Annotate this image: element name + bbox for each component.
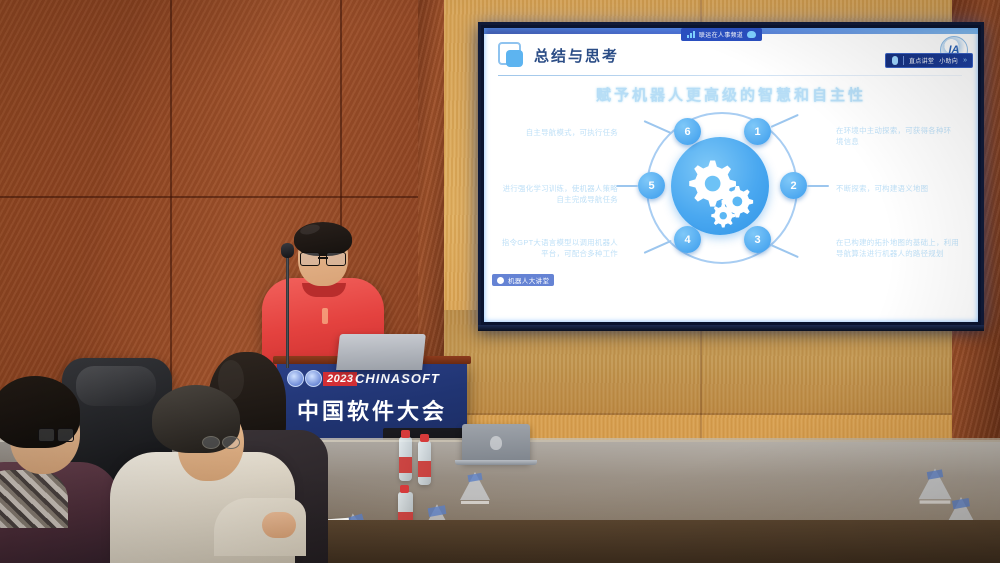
stream-right-badge-subtext: 小助向	[939, 56, 958, 65]
stream-right-badge-text: 直点讲堂	[909, 56, 934, 65]
microphone-icon	[892, 56, 898, 65]
diagram-label-3: 在已构建的拓扑地图的基础上，利用导航算法进行机器人的路径规划	[836, 238, 960, 259]
screenshot-root: 总结与思考 赋予机器人更高级的智慧和自主性	[0, 0, 1000, 563]
audience-2-hand	[262, 512, 296, 538]
wall-seam-vertical-a	[170, 0, 172, 395]
wall-seam-horizontal-lower	[444, 413, 964, 415]
diagram-label-5: 进行强化学习训练，使机器人策略自主完成导航任务	[498, 184, 618, 205]
slide-section-title: 总结与思考	[534, 45, 619, 66]
audience-1-glasses-icon	[38, 428, 74, 441]
speaker-shirt-print	[322, 308, 328, 324]
macbook-base	[455, 460, 537, 465]
gears-icon	[671, 137, 769, 235]
diagram-node-4[interactable]: 4	[674, 226, 701, 253]
stream-right-badge: 直点讲堂 小助向 »	[885, 53, 973, 68]
presentation-display: 总结与思考 赋予机器人更高级的智慧和自主性	[478, 22, 984, 328]
diagram-spoke-6	[644, 120, 672, 134]
rounded-square-icon	[498, 42, 524, 68]
wall-seam-vertical-b	[340, 0, 342, 230]
watermark-dot-icon	[497, 277, 504, 284]
diagram-spoke-1	[771, 114, 799, 128]
water-bottle	[399, 437, 412, 481]
name-card-holder	[460, 472, 490, 502]
badge-divider	[903, 56, 904, 65]
diagram-spoke-5	[616, 185, 638, 187]
microphone-head-icon	[281, 243, 294, 258]
water-bottle	[418, 441, 431, 485]
diagram-node-1[interactable]: 1	[744, 118, 771, 145]
diagram-spoke-2	[807, 185, 829, 187]
audience-2-glasses-icon	[202, 436, 240, 449]
audience-1-scarf	[0, 470, 68, 528]
diagram-node-3[interactable]: 3	[744, 226, 771, 253]
macbook-laptop	[462, 424, 530, 462]
slide-main-heading: 赋予机器人更高级的智慧和自主性	[484, 84, 978, 105]
speaker-laptop	[336, 334, 426, 370]
office-chair-highlight	[76, 366, 156, 406]
podium-brand: CHINASOFT	[355, 371, 440, 386]
diagram-spoke-3	[771, 244, 799, 258]
radial-cycle-diagram: 1 2 3 4 5 6	[622, 106, 822, 266]
stream-top-badge-text: 联运在人事频道	[699, 30, 743, 39]
podium-conference-name: 中国软件大会	[277, 394, 467, 426]
podium-year: 2023	[323, 372, 357, 386]
slide-watermark-badge: 机器人大讲堂	[492, 274, 554, 286]
diagram-label-4: 指令GPT大语言模型以调用机器人平台，可配合多种工作	[500, 238, 618, 259]
microphone-stand	[286, 250, 289, 368]
speaker-hair	[294, 222, 352, 256]
diagram-node-2[interactable]: 2	[780, 172, 807, 199]
cloud-icon	[747, 31, 756, 38]
podium-emblem-left-icon	[287, 370, 304, 387]
stream-top-badge: 联运在人事频道	[681, 28, 762, 41]
slide-section-header: 总结与思考	[498, 42, 619, 68]
speaker-glasses-icon	[300, 252, 346, 265]
diagram-label-2: 不断探索，可构建语义地图	[836, 184, 954, 195]
diagram-label-1: 在环境中主动探索，可获得各种环境信息	[836, 126, 954, 147]
diagram-node-6[interactable]: 6	[674, 118, 701, 145]
slide-header-divider	[498, 75, 962, 76]
chevron-right-icon: »	[963, 57, 966, 64]
slide-content: 总结与思考 赋予机器人更高级的智慧和自主性	[484, 28, 978, 322]
diagram-label-6: 自主导航模式，可执行任务	[506, 128, 618, 139]
signal-bars-icon	[687, 31, 695, 38]
wall-seam-horizontal	[0, 196, 462, 198]
podium-emblem-right-icon	[305, 370, 322, 387]
diagram-spoke-4	[644, 240, 672, 254]
watermark-text: 机器人大讲堂	[508, 275, 549, 285]
diagram-node-5[interactable]: 5	[638, 172, 665, 199]
